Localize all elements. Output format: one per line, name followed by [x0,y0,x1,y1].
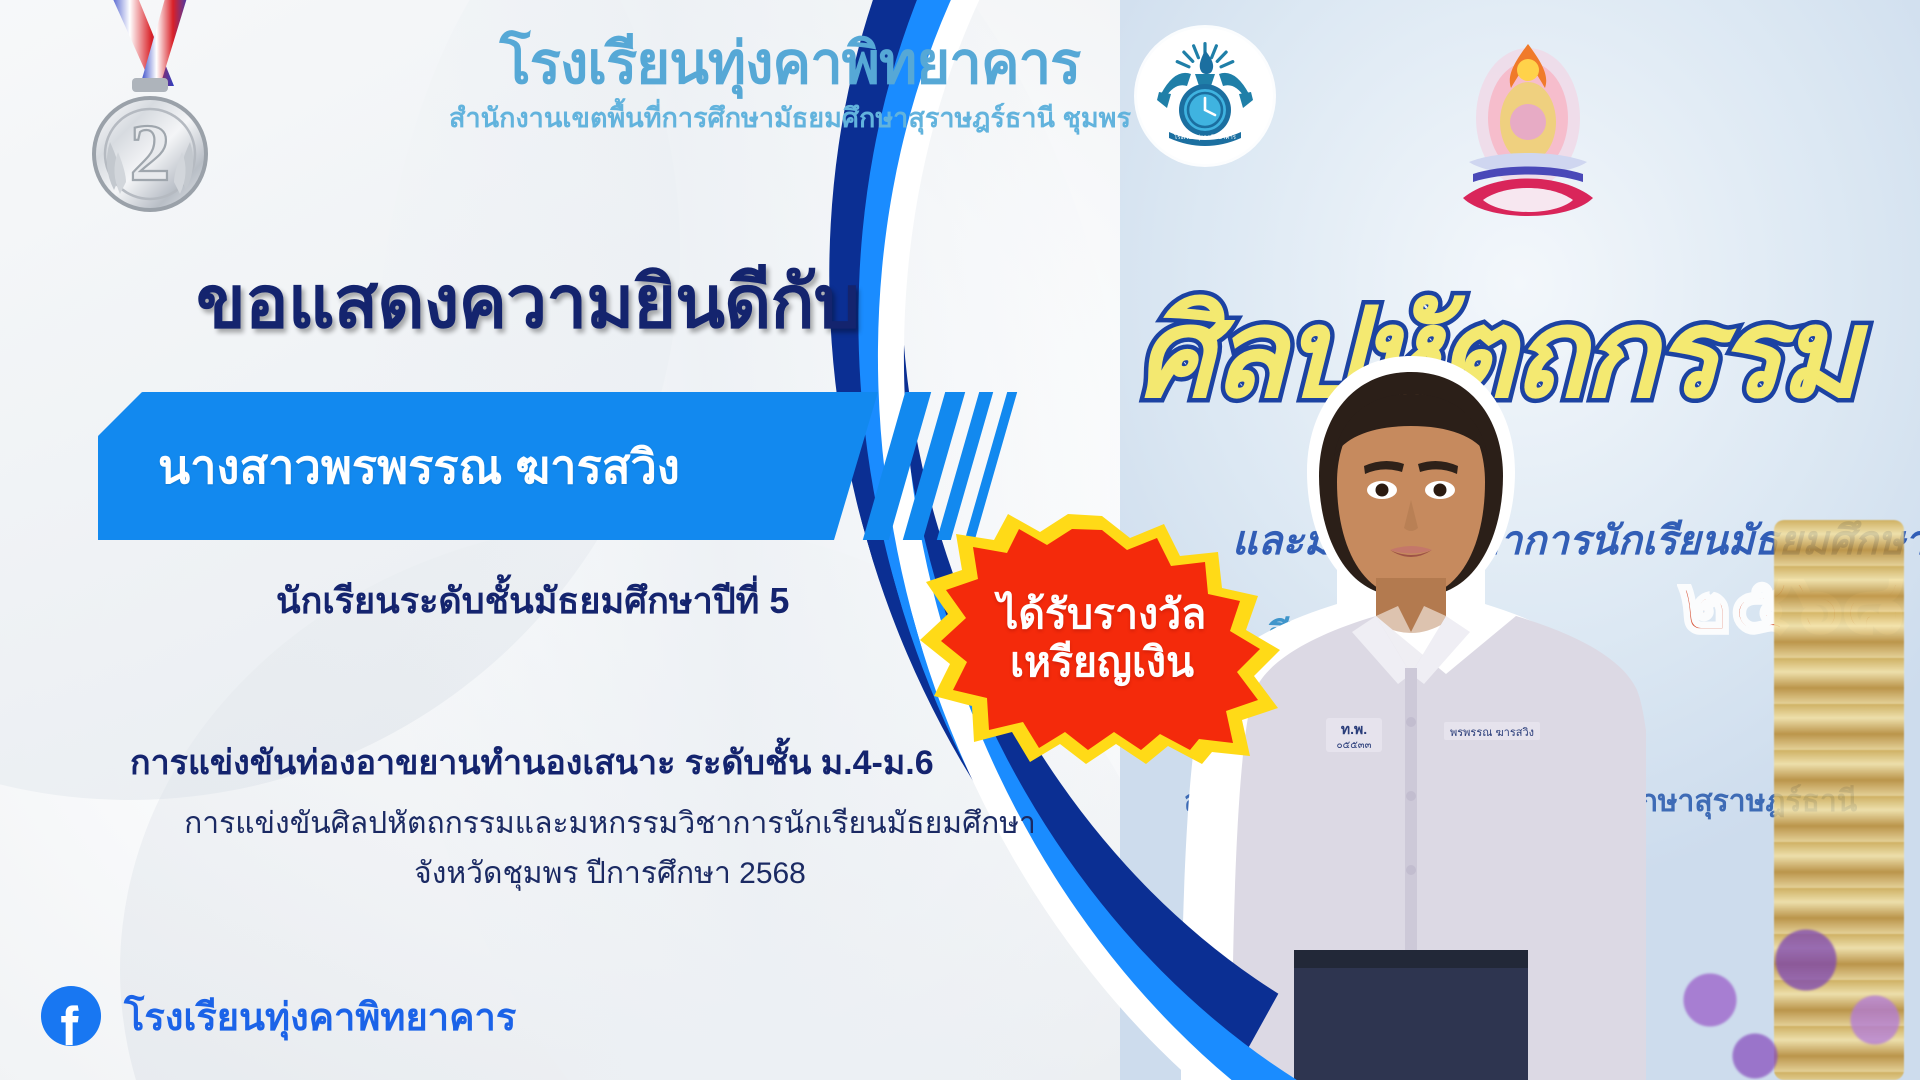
facebook-icon[interactable] [40,985,102,1047]
purple-flower-decor [1620,880,1920,1080]
svg-text:พรพรรณ ฆารสวิง: พรพรรณ ฆารสวิง [1450,727,1534,739]
awardee-grade-level: นักเรียนระดับชั้นมัธยมศึกษาปีที่ 5 [276,572,789,629]
certificate-canvas: ศิลปหัตถกรรม และมหกรรมวิชาการนักเรียนมัธ… [0,0,1920,1080]
facebook-page-name[interactable]: โรงเรียนทุ่งคาพิทยาคาร [124,986,516,1047]
education-office-name: สำนักงานเขตพื้นที่การศึกษามัธยมศึกษาสุรา… [380,96,1200,139]
footer-social[interactable]: โรงเรียนทุ่งคาพิทยาคาร [40,985,516,1047]
competition-fair-line-2: จังหวัดชุมพร ปีการศึกษา 2568 [80,850,1140,897]
royal-emblem-icon [1443,22,1613,272]
torch-clock-emblem-icon: โรงเรียนทุ่งคาพิทยาคาร [1145,36,1265,156]
svg-text:ท.พ.: ท.พ. [1341,721,1367,737]
school-name: โรงเรียนทุ่งคาพิทยาคาร [380,34,1200,94]
competition-fair-line-1: การแข่งขันศิลปหัตถกรรมและมหกรรมวิชาการนั… [80,800,1140,847]
silver-medal-icon: 2 [48,0,248,244]
award-badge: ได้รับรางวัล เหรียญเงิน [916,514,1288,764]
svg-text:โรงเรียนทุ่งคาพิทยาคาร: โรงเรียนทุ่งคาพิทยาคาร [1174,133,1237,141]
school-emblem-logo: โรงเรียนทุ่งคาพิทยาคาร [1137,28,1273,164]
svg-text:๐๕๕๓๓: ๐๕๕๓๓ [1337,740,1372,751]
name-banner-body: นางสาวพรพรรณ ฆารสวิง [98,392,878,540]
awardee-name-banner: นางสาวพรพรรณ ฆารสวิง [98,392,978,540]
header-block: โรงเรียนทุ่งคาพิทยาคาร สำนักงานเขตพื้นที… [380,34,1200,139]
svg-text:2: 2 [130,107,171,198]
starburst-icon [916,514,1288,764]
competition-event-title: การแข่งขันท่องอาขยานทำนองเสนาะ ระดับชั้น… [130,735,934,789]
congratulation-headline: ขอแสดงความยินดีกับ [196,244,859,360]
awardee-name: นางสาวพรพรรณ ฆารสวิง [98,429,680,504]
